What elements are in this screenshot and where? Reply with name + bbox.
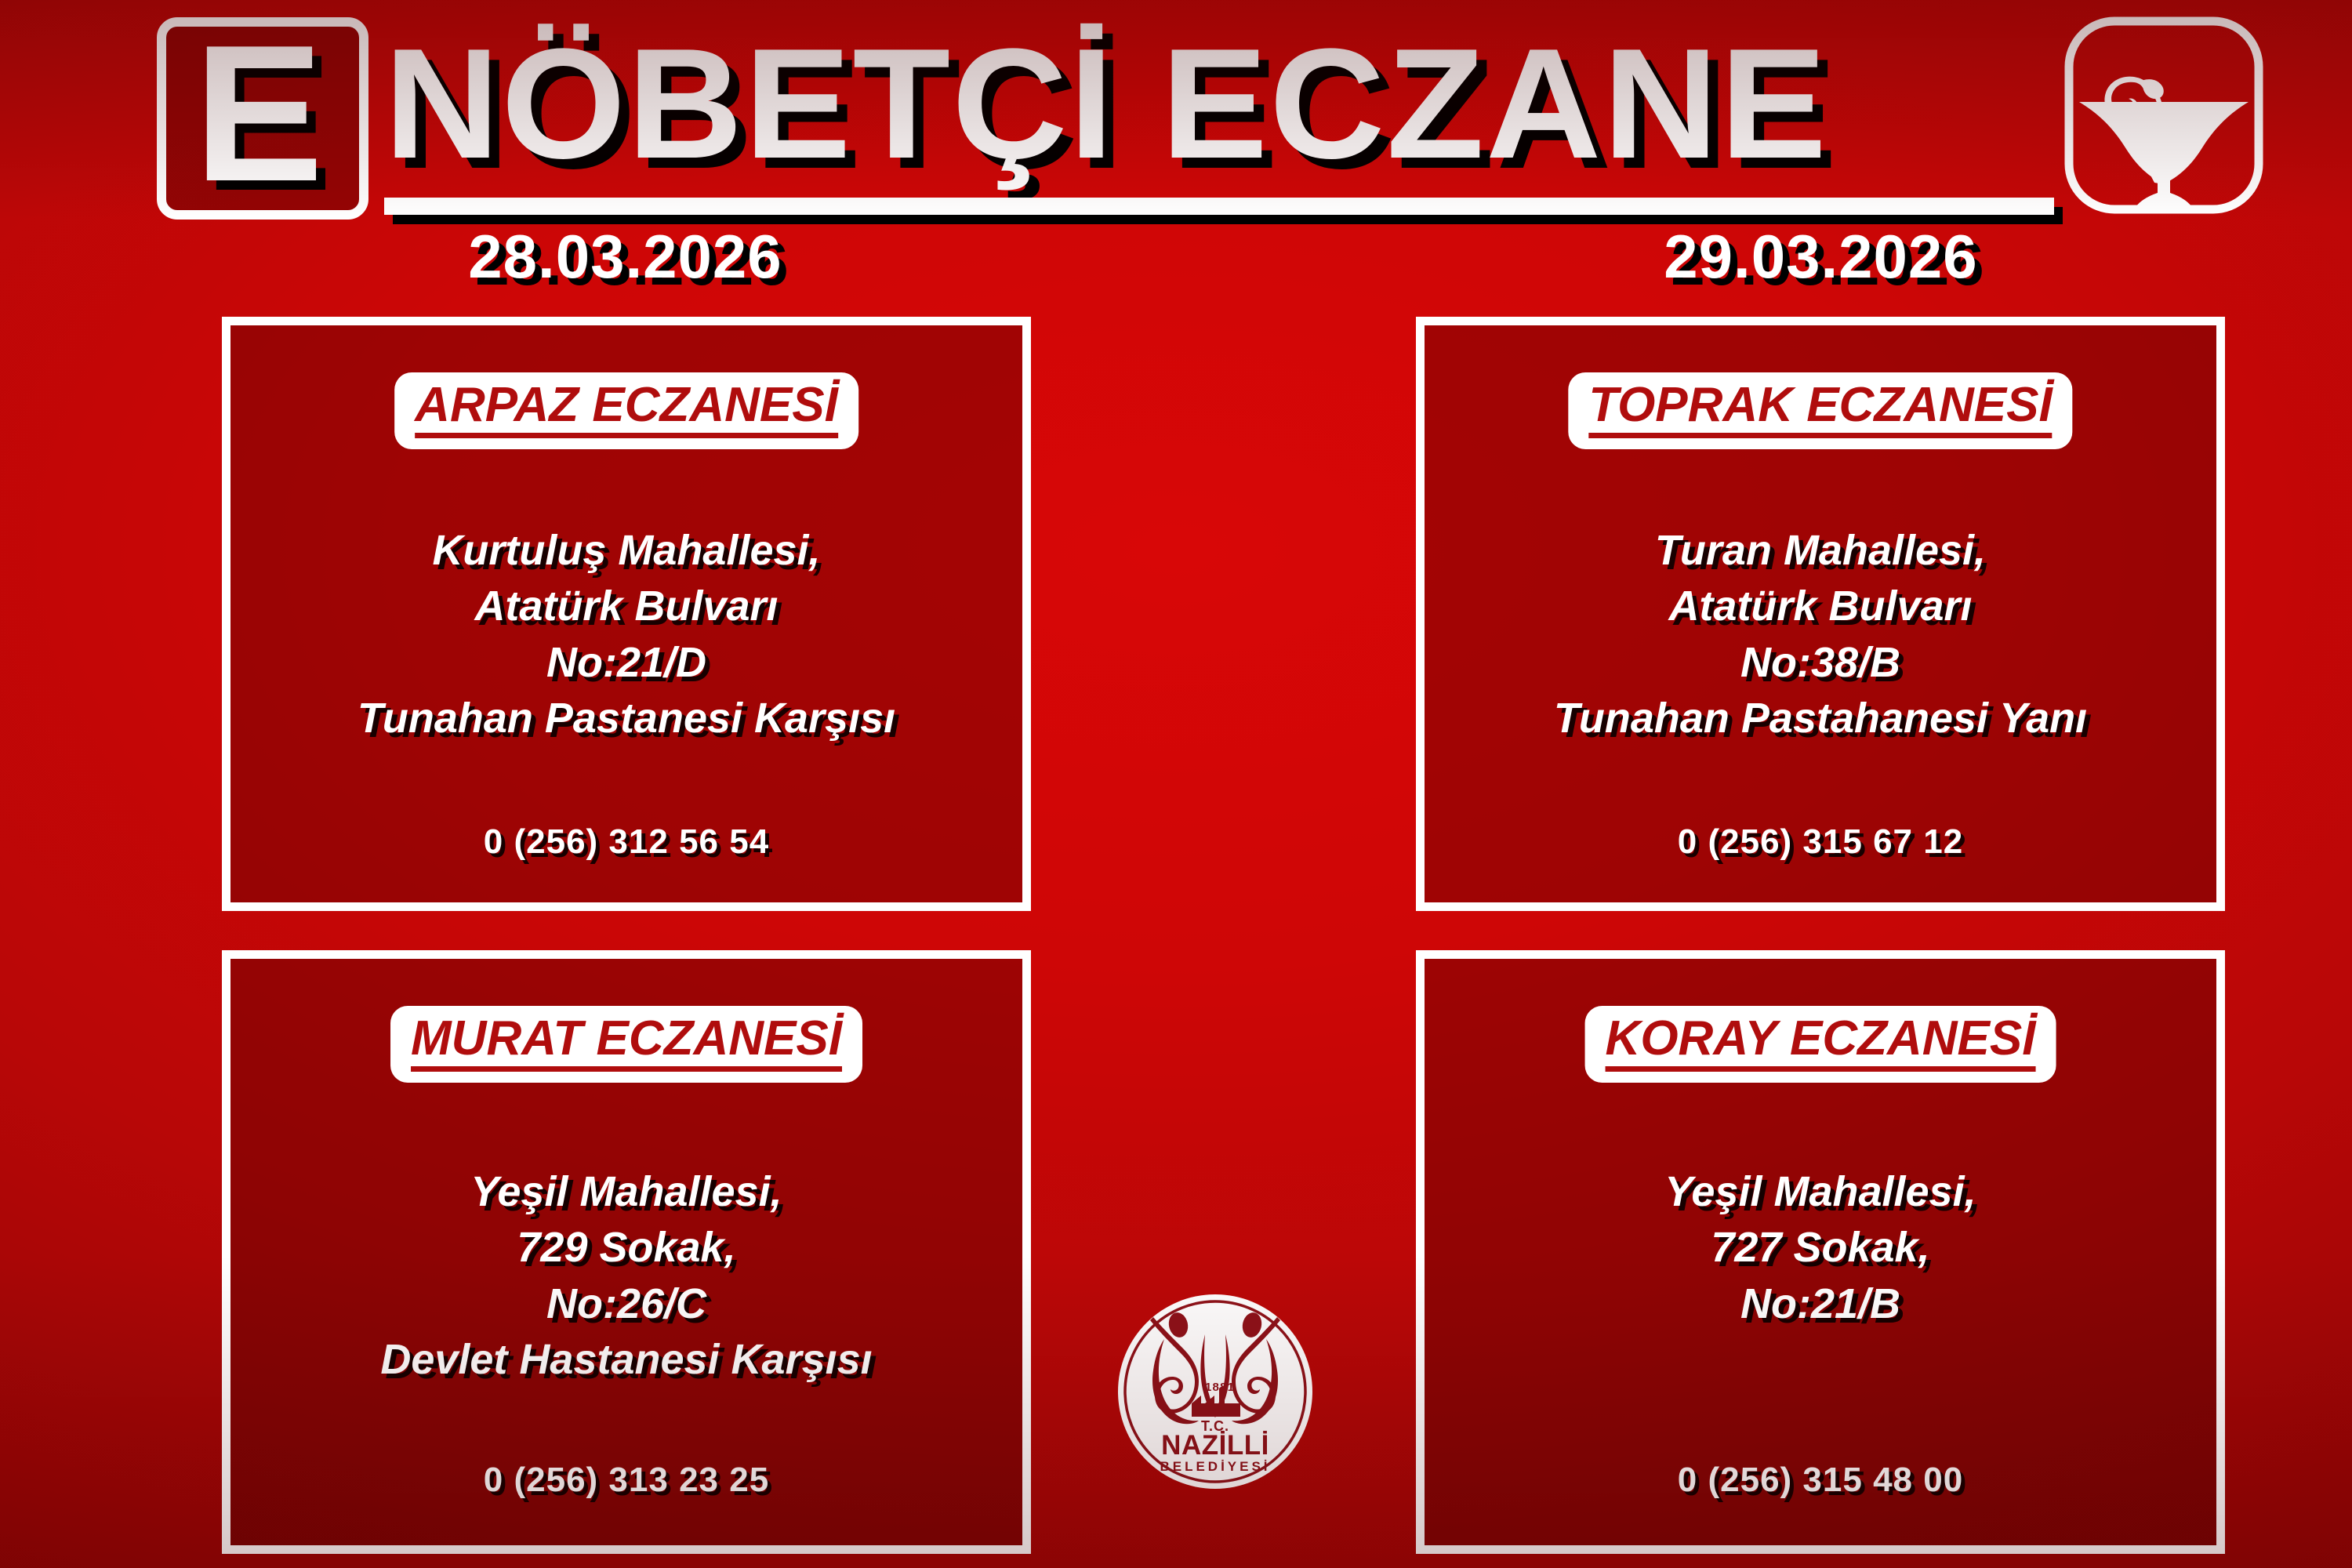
pharmacy-address: Yeşil Mahallesi,729 Sokak,No:26/CDevlet … [230, 1164, 1022, 1388]
pharmacy-card[interactable]: ARPAZ ECZANESİ Kurtuluş Mahallesi,Atatür… [222, 317, 1031, 911]
pharmacy-card[interactable]: KORAY ECZANESİ Yeşil Mahallesi,727 Sokak… [1416, 950, 2225, 1554]
pharmacy-phone[interactable]: 0 (256) 315 48 00 [1425, 1461, 2216, 1500]
pharmacy-address: Kurtuluş Mahallesi,Atatürk BulvarıNo:21/… [230, 523, 1022, 746]
date-right: 29.03.2026 [1415, 221, 2227, 292]
poster-header: E NÖBETÇİ ECZANE [0, 0, 2352, 235]
poster-title-underline [384, 198, 2054, 215]
pharmacy-name-badge: MURAT ECZANESİ [390, 1006, 862, 1083]
pharmacy-name: ARPAZ ECZANESİ [415, 379, 838, 438]
pharmacy-name-badge: ARPAZ ECZANESİ [394, 372, 858, 449]
pharmacy-phone[interactable]: 0 (256) 313 23 25 [230, 1461, 1022, 1500]
nobetci-eczane-poster: E NÖBETÇİ ECZANE 28.03.2026 29.03.2026 [0, 0, 2352, 1568]
nazilli-belediyesi-logo: 1881 T.C. NAZİLLİ BELEDİYESİ [1117, 1294, 1313, 1490]
poster-title-text: NÖBETÇİ ECZANE [384, 14, 1828, 194]
pharmacy-name: MURAT ECZANESİ [411, 1013, 842, 1072]
pharmacy-phone[interactable]: 0 (256) 312 56 54 [230, 822, 1022, 862]
pharmacy-card[interactable]: TOPRAK ECZANESİ Turan Mahallesi,Atatürk … [1416, 317, 2225, 911]
eczane-letter-e: E [166, 27, 359, 210]
pharmacy-name-badge: TOPRAK ECZANESİ [1568, 372, 2072, 449]
eczane-letter-badge: E [157, 17, 368, 220]
logo-name: NAZİLLİ [1161, 1430, 1269, 1461]
pharmacy-name-badge: KORAY ECZANESİ [1585, 1006, 2056, 1083]
pharmacy-name: TOPRAK ECZANESİ [1588, 379, 2052, 438]
poster-title: NÖBETÇİ ECZANE [384, 14, 1800, 194]
date-left: 28.03.2026 [220, 221, 1031, 292]
pharmacy-address: Yeşil Mahallesi,727 Sokak,No:21/B [1425, 1164, 2216, 1332]
pharmacy-phone[interactable]: 0 (256) 315 67 12 [1425, 822, 2216, 862]
logo-subtitle: BELEDİYESİ [1160, 1459, 1270, 1474]
bowl-of-hygieia-icon [2062, 14, 2266, 216]
pharmacy-address: Turan Mahallesi,Atatürk BulvarıNo:38/BTu… [1425, 523, 2216, 746]
pharmacy-name: KORAY ECZANESİ [1606, 1013, 2036, 1072]
pharmacy-card[interactable]: MURAT ECZANESİ Yeşil Mahallesi,729 Sokak… [222, 950, 1031, 1554]
